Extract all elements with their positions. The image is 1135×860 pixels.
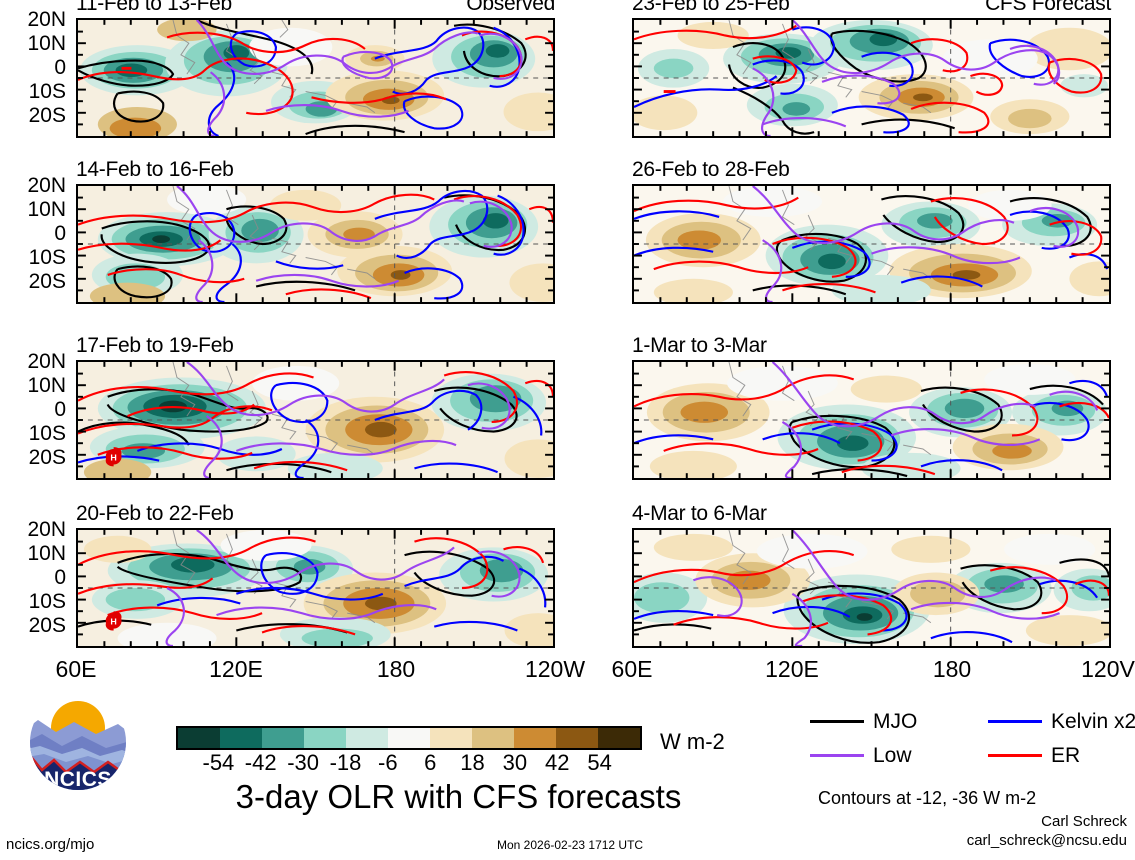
y-axis-labels-row1-left: 20N 10N 0 10S 20S: [0, 184, 72, 304]
map-area[interactable]: H: [76, 360, 555, 480]
colorbar-tick: 6: [424, 750, 436, 776]
y-tick-0: 0: [54, 223, 66, 244]
legend-label: ER: [1051, 745, 1080, 766]
y-tick-10n: 10N: [27, 199, 66, 220]
panel-p4: 20-Feb to 22-Feb: [76, 528, 555, 648]
panel-p7: 1-Mar to 3-Mar: [632, 360, 1111, 480]
legend-item-kelvin: Kelvin x2: [988, 708, 1135, 734]
svg-text:H: H: [110, 617, 116, 627]
y-tick-0: 0: [54, 57, 66, 78]
author-email[interactable]: carl_schreck@ncsu.edu: [967, 831, 1127, 850]
legend-label: Kelvin x2: [1051, 711, 1135, 732]
x-tick-120w: 120V: [1081, 655, 1135, 683]
y-tick-20n: 20N: [27, 351, 66, 372]
panel-p6: 26-Feb to 28-Feb: [632, 184, 1111, 304]
y-tick-10s: 10S: [29, 247, 66, 268]
map-area[interactable]: [632, 360, 1111, 480]
colorbar-tick: -54: [202, 750, 234, 776]
contour-note: Contours at -12, -36 W m-2: [818, 788, 1036, 808]
colorbar-swatch-2: [262, 728, 304, 748]
olr-field: [78, 186, 553, 302]
colorbar-tick: 42: [545, 750, 569, 776]
er-line-swatch: [988, 754, 1042, 757]
panel-title: 20-Feb to 22-Feb: [76, 503, 233, 524]
colorbar-swatch-8: [514, 728, 556, 748]
y-axis-labels-row2-left: 20N 10N 0 10S 20S: [0, 360, 72, 480]
low-line-swatch: [810, 754, 864, 757]
x-tick-120w: 120W: [525, 655, 585, 683]
x-tick-120e: 120E: [765, 655, 819, 683]
legend-label: Low: [873, 745, 912, 766]
y-axis-labels-row3-left: 20N 10N 0 10S 20S: [0, 528, 72, 648]
map-area[interactable]: [76, 18, 555, 138]
panel-title: 4-Mar to 6-Mar: [632, 503, 767, 524]
colorbar-swatch-5: [388, 728, 430, 748]
ncics-logo-icon: NCICS: [22, 692, 134, 792]
y-tick-20s: 20S: [29, 447, 66, 468]
panel-title: 23-Feb to 25-Feb: [632, 0, 789, 14]
x-axis-labels-right: 60E 120E 180 120V: [632, 655, 1111, 683]
colorbar-tick: -6: [378, 750, 398, 776]
panel-corner-label: Observed: [466, 0, 555, 14]
colorbar-unit-label: W m-2: [660, 730, 725, 754]
y-tick-10s: 10S: [29, 591, 66, 612]
ncics-logo[interactable]: NCICS: [22, 692, 134, 792]
y-tick-0: 0: [54, 399, 66, 420]
panel-corner-label: CFS Forecast: [985, 0, 1111, 14]
olr-field: [634, 20, 1109, 136]
x-tick-120e: 120E: [209, 655, 263, 683]
panel-p8: 4-Mar to 6-Mar: [632, 528, 1111, 648]
legend-item-mjo: MJO: [810, 708, 917, 734]
colorbar-swatch-9: [556, 728, 598, 748]
timestamp: Mon 2026-02-23 1712 UTC: [497, 838, 643, 853]
y-tick-0: 0: [54, 567, 66, 588]
x-tick-180: 180: [377, 655, 415, 683]
panel-p2: 14-Feb to 16-Feb: [76, 184, 555, 304]
y-tick-20n: 20N: [27, 9, 66, 30]
olr-field: [634, 362, 1109, 478]
site-url[interactable]: ncics.org/mjo: [6, 836, 94, 854]
x-axis-labels-left: 60E 120E 180 120W: [76, 655, 555, 683]
kelvin-line-swatch: [988, 720, 1042, 723]
panel-p1: 11-Feb to 13-Feb Observed: [76, 18, 555, 138]
colorbar-tick: 54: [587, 750, 611, 776]
colorbar-swatch-0: [178, 728, 220, 748]
colorbar-swatch-4: [346, 728, 388, 748]
map-area[interactable]: [632, 528, 1111, 648]
ncics-logo-text: NCICS: [44, 768, 112, 791]
y-tick-20s: 20S: [29, 271, 66, 292]
figure-title: 3-day OLR with CFS forecasts: [186, 779, 731, 815]
colorbar-swatch-3: [304, 728, 346, 748]
author-name: Carl Schreck: [967, 812, 1127, 831]
contour-legend: MJO Kelvin x2 Low ER: [810, 708, 1135, 768]
panel-grid: 20N 10N 0 10S 20S 20N 10N 0 10S 20S 20N …: [0, 0, 1135, 690]
y-tick-20n: 20N: [27, 519, 66, 540]
legend-item-low: Low: [810, 742, 912, 768]
panel-title: 17-Feb to 19-Feb: [76, 335, 233, 356]
colorbar-swatch-10: [598, 728, 640, 748]
olr-field: H: [78, 530, 553, 646]
map-area[interactable]: H: [76, 528, 555, 648]
legend-item-er: ER: [988, 742, 1080, 768]
colorbar-tick: -30: [287, 750, 319, 776]
legend-label: MJO: [873, 711, 917, 732]
colorbar-tick: 30: [503, 750, 527, 776]
map-area[interactable]: [632, 18, 1111, 138]
colorbar-tick: -42: [245, 750, 277, 776]
mjo-line-swatch: [810, 720, 864, 723]
colorbar: [176, 726, 642, 750]
y-axis-labels-row0-left: 20N 10N 0 10S 20S: [0, 18, 72, 138]
olr-field: [634, 186, 1109, 302]
svg-text:H: H: [110, 453, 116, 463]
author-block: Carl Schreck carl_schreck@ncsu.edu: [967, 812, 1127, 850]
colorbar-tick-labels: -54 -42 -30 -18 -6 6 18 30 42 54: [176, 750, 642, 776]
panel-title: 14-Feb to 16-Feb: [76, 159, 233, 180]
y-tick-10s: 10S: [29, 423, 66, 444]
y-tick-20s: 20S: [29, 615, 66, 636]
map-area[interactable]: [632, 184, 1111, 304]
panel-p5: 23-Feb to 25-Feb CFS Forecast: [632, 18, 1111, 138]
map-area[interactable]: [76, 184, 555, 304]
colorbar-tick: -18: [330, 750, 362, 776]
hurricane-symbol-icon: H: [106, 449, 122, 464]
y-tick-20s: 20S: [29, 105, 66, 126]
x-tick-60e: 60E: [56, 655, 97, 683]
olr-field: H: [78, 362, 553, 478]
colorbar-swatch-6: [430, 728, 472, 748]
x-tick-60e: 60E: [612, 655, 653, 683]
colorbar-swatch-7: [472, 728, 514, 748]
hurricane-symbol-icon: H: [106, 613, 122, 628]
olr-field: [78, 20, 553, 136]
y-tick-10n: 10N: [27, 543, 66, 564]
panel-p3: 17-Feb to 19-Feb: [76, 360, 555, 480]
y-tick-20n: 20N: [27, 175, 66, 196]
y-tick-10n: 10N: [27, 33, 66, 54]
x-tick-180: 180: [933, 655, 971, 683]
panel-title: 11-Feb to 13-Feb: [76, 0, 232, 14]
panel-title: 26-Feb to 28-Feb: [632, 159, 789, 180]
olr-field: [634, 530, 1109, 646]
y-tick-10s: 10S: [29, 81, 66, 102]
colorbar-swatch-1: [220, 728, 262, 748]
panel-title: 1-Mar to 3-Mar: [632, 335, 767, 356]
colorbar-tick: 18: [460, 750, 484, 776]
y-tick-10n: 10N: [27, 375, 66, 396]
